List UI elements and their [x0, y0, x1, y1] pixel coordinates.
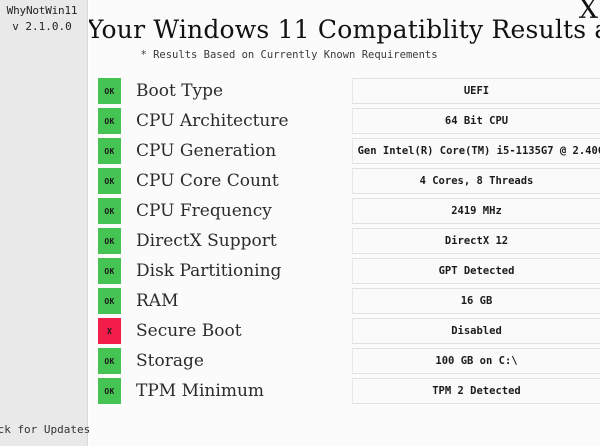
result-value-box: TPM 2 Detected — [352, 378, 600, 404]
status-pass-icon: OK — [98, 108, 121, 134]
result-row: OKDirectX SupportDirectX 12 — [89, 228, 600, 254]
result-value: TPM 2 Detected — [353, 379, 600, 403]
title-container: Your Windows 11 Compatiblity Results are… — [89, 14, 600, 48]
result-value-box: GPT Detected — [352, 258, 600, 284]
app-version-label: v 2.1.0.0 — [0, 20, 90, 33]
result-row: OKDisk PartitioningGPT Detected — [89, 258, 600, 284]
result-row: OKCPU Architecture64 Bit CPU — [89, 108, 600, 134]
result-value: 11th Gen Intel(R) Core(TM) i5-1135G7 @ 2… — [352, 139, 600, 163]
result-label: RAM — [136, 288, 178, 314]
result-row: OKBoot TypeUEFI — [89, 78, 600, 104]
results-list: OKBoot TypeUEFIOKCPU Architecture64 Bit … — [89, 78, 600, 446]
result-value-box: 2419 MHz — [352, 198, 600, 224]
status-pass-icon: OK — [98, 378, 121, 404]
result-row: OKStorage100 GB on C:\ — [89, 348, 600, 374]
status-pass-icon: OK — [98, 258, 121, 284]
page-subtitle: * Results Based on Currently Known Requi… — [89, 49, 489, 61]
result-label: DirectX Support — [136, 228, 277, 254]
result-value: 100 GB on C:\ — [353, 349, 600, 373]
result-value: UEFI — [353, 79, 600, 103]
result-row: OKTPM MinimumTPM 2 Detected — [89, 378, 600, 404]
result-value: 4 Cores, 8 Threads — [353, 169, 600, 193]
main-panel: Your Windows 11 Compatiblity Results are… — [89, 0, 600, 446]
result-row: OKCPU Core Count4 Cores, 8 Threads — [89, 168, 600, 194]
status-pass-icon: OK — [98, 168, 121, 194]
status-pass-icon: OK — [98, 288, 121, 314]
result-row: OKCPU Generation11th Gen Intel(R) Core(T… — [89, 138, 600, 164]
result-row: XSecure BootDisabled — [89, 318, 600, 344]
result-label: Secure Boot — [136, 318, 242, 344]
result-value-box: UEFI — [352, 78, 600, 104]
result-value-box: DirectX 12 — [352, 228, 600, 254]
result-value-box: 4 Cores, 8 Threads — [352, 168, 600, 194]
result-value-box: 64 Bit CPU — [352, 108, 600, 134]
result-value: 16 GB — [353, 289, 600, 313]
status-pass-icon: OK — [98, 348, 121, 374]
close-icon[interactable]: X — [579, 0, 598, 24]
result-value: 2419 MHz — [353, 199, 600, 223]
result-label: Storage — [136, 348, 204, 374]
result-label: Boot Type — [136, 78, 223, 104]
app-name: WhyNotWin11 — [0, 4, 90, 17]
result-label: Disk Partitioning — [136, 258, 281, 284]
result-row: OKCPU Frequency2419 MHz — [89, 198, 600, 224]
result-value: DirectX 12 — [353, 229, 600, 253]
result-value: Disabled — [353, 319, 600, 343]
status-pass-icon: OK — [98, 78, 121, 104]
result-label: CPU Core Count — [136, 168, 279, 194]
result-value: 64 Bit CPU — [353, 109, 600, 133]
status-pass-icon: OK — [98, 198, 121, 224]
status-pass-icon: OK — [98, 228, 121, 254]
result-label: CPU Architecture — [136, 108, 289, 134]
page-title: Your Windows 11 Compatiblity Results are… — [89, 14, 600, 46]
result-value-box: 100 GB on C:\ — [352, 348, 600, 374]
status-pass-icon: OK — [98, 138, 121, 164]
result-label: TPM Minimum — [136, 378, 264, 404]
result-row: OKRAM16 GB — [89, 288, 600, 314]
result-value: GPT Detected — [353, 259, 600, 283]
result-value-box: Disabled — [352, 318, 600, 344]
check-for-updates-button[interactable]: Check for Updates — [0, 423, 94, 436]
status-fail-icon: X — [98, 318, 121, 344]
sidebar: WhyNotWin11 v 2.1.0.0 Check for Updates — [0, 0, 88, 446]
result-label: CPU Frequency — [136, 198, 272, 224]
result-value-box: 11th Gen Intel(R) Core(TM) i5-1135G7 @ 2… — [352, 138, 600, 164]
result-label: CPU Generation — [136, 138, 276, 164]
result-value-box: 16 GB — [352, 288, 600, 314]
